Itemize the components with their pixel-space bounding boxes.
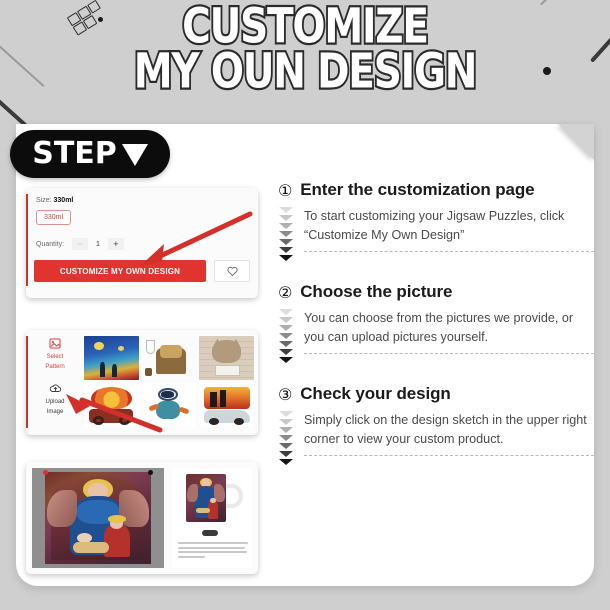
step-3-number: ③ (278, 385, 292, 404)
image-pattern-icon (32, 338, 78, 352)
chevron-down-icon-column-3 (278, 410, 294, 467)
folded-corner-decoration (558, 124, 594, 160)
astronaut-thumbnail[interactable] (142, 383, 197, 427)
steps-list: ① Enter the customization page To start … (278, 180, 594, 486)
step-3-text: Simply click on the design sketch in the… (304, 410, 594, 450)
pattern-thumbnail-grid (84, 336, 254, 427)
step-item-1: ① Enter the customization page To start … (278, 180, 594, 263)
resize-handle-black[interactable] (148, 470, 153, 475)
page-title: CUSTOMIZE MY OUN DESIGN (0, 2, 610, 79)
step-2-title: Choose the picture (300, 282, 452, 302)
size-option-chip[interactable]: 330ml (36, 210, 71, 225)
step-3-divider (304, 455, 594, 456)
design-editor-canvas (32, 468, 164, 568)
size-label: Size: (36, 197, 52, 204)
panel2-sidebar: Select Pattern Upload Image (32, 338, 78, 428)
step-2-divider (304, 353, 594, 354)
step-2-body: You can choose from the pictures we prov… (278, 308, 594, 365)
step-2-number: ② (278, 283, 292, 302)
step-3-body: Simply click on the design sketch in the… (278, 410, 594, 467)
quantity-increment-button[interactable]: + (108, 238, 124, 250)
upload-image-label-1: Upload (32, 399, 78, 407)
quantity-value: 1 (96, 241, 100, 248)
mug-print-area (186, 474, 226, 522)
size-label-row: Size: 330ml (36, 197, 73, 204)
product-description-lines (178, 542, 248, 560)
chevron-down-icon-column-2 (278, 308, 294, 365)
chevron-down-icon-column-1 (278, 206, 294, 263)
quantity-stepper: Quantity: − 1 + (36, 238, 124, 250)
step-1-divider (304, 251, 594, 252)
step-2-heading: ② Choose the picture (278, 282, 594, 302)
step-3-title: Check your design (300, 384, 450, 404)
step-1-text: To start customizing your Jigsaw Puzzles… (304, 206, 594, 246)
upload-image-tab[interactable]: Upload Image (32, 383, 78, 416)
preview-badge (202, 530, 218, 536)
size-value: 330ml (54, 197, 74, 204)
resize-handle-red[interactable] (43, 470, 48, 475)
step-3-heading: ③ Check your design (278, 384, 594, 404)
screenshot-panel-check-design (26, 462, 258, 574)
panel1-accent-bar (26, 194, 28, 286)
select-pattern-label-2: Pattern (32, 364, 78, 372)
step-item-3: ③ Check your design Simply click on the … (278, 384, 594, 467)
step-2-text: You can choose from the pictures we prov… (304, 308, 594, 348)
panel2-accent-bar (26, 336, 28, 428)
customize-my-own-design-button[interactable]: CUSTOMIZE MY OWN DESIGN (34, 260, 206, 282)
classic-car-sunset-thumbnail[interactable] (199, 383, 254, 427)
title-line-2: MY OUN DESIGN (0, 47, 610, 96)
motorcycle-sunset-thumbnail[interactable] (84, 383, 139, 427)
screenshot-panel-choose-picture: Select Pattern Upload Image (26, 330, 258, 435)
select-pattern-label-1: Select (32, 354, 78, 362)
triangle-down-icon (122, 144, 148, 166)
step-badge: STEP (10, 130, 170, 178)
select-pattern-tab[interactable]: Select Pattern (32, 338, 78, 371)
step-1-heading: ① Enter the customization page (278, 180, 594, 200)
screenshot-panel-customization-page: Size: 330ml 330ml Quantity: − 1 + CUSTOM… (26, 188, 258, 298)
cat-in-armchair-thumbnail[interactable] (142, 336, 197, 380)
cloud-upload-icon (32, 383, 78, 397)
step-1-title: Enter the customization page (300, 180, 534, 200)
step-1-body: To start customizing your Jigsaw Puzzles… (278, 206, 594, 263)
stained-glass-madonna-design[interactable] (45, 472, 151, 564)
upload-image-label-2: Image (32, 409, 78, 417)
starry-night-thumbnail[interactable] (84, 336, 139, 380)
quantity-label: Quantity: (36, 241, 64, 248)
page-root: CUSTOMIZE MY OUN DESIGN STEP Size: 330ml… (0, 0, 610, 610)
cat-holding-sign-thumbnail[interactable] (199, 336, 254, 380)
quantity-decrement-button[interactable]: − (72, 238, 88, 250)
step-1-number: ① (278, 181, 292, 200)
product-preview-panel (172, 468, 252, 568)
step-badge-label: STEP (32, 139, 117, 169)
step-item-2: ② Choose the picture You can choose from… (278, 282, 594, 365)
mug-preview[interactable] (172, 468, 252, 530)
wishlist-button[interactable] (214, 260, 250, 282)
heart-icon (227, 266, 238, 276)
